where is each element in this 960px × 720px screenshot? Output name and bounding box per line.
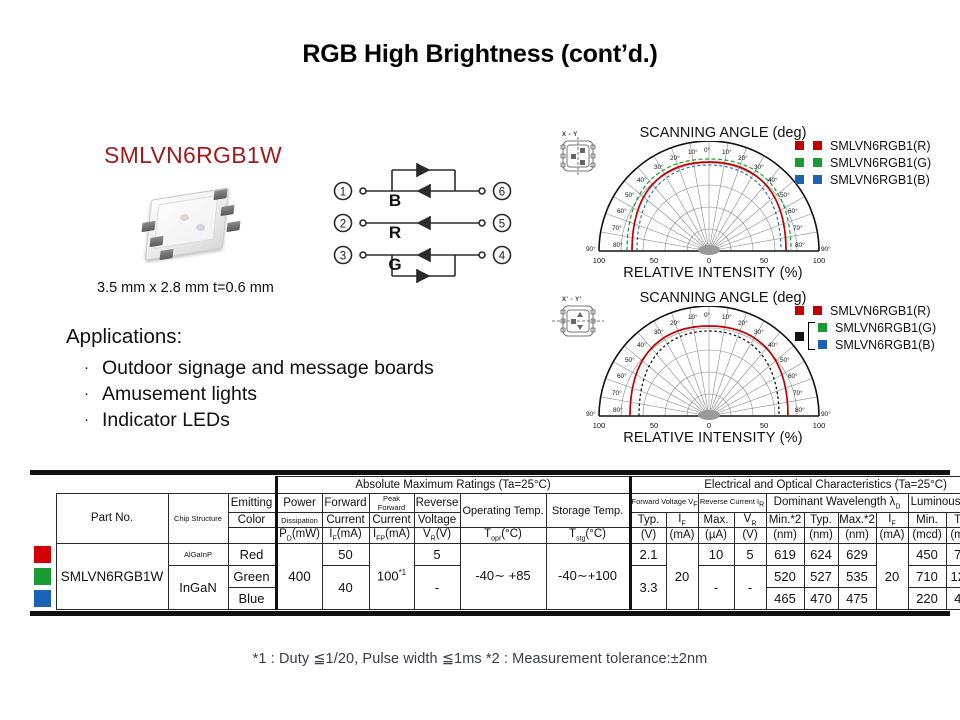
- unit-topr: Topr(°C): [460, 528, 546, 543]
- color-swatch-blue-cell: [30, 587, 56, 609]
- header-reverse-current: Reverse Current IR: [698, 494, 766, 513]
- axis-icon-label: X - Y: [562, 132, 578, 138]
- unit-if: IF(mA): [322, 528, 369, 543]
- table-top-rule: [30, 470, 950, 475]
- unit-ma-wl: (mA): [876, 528, 908, 543]
- led-die-1: [180, 214, 189, 221]
- svg-text:80°: 80°: [613, 241, 623, 249]
- cell-vf-if: 20: [666, 543, 698, 609]
- table-group-header-row: Absolute Maximum Ratings (Ta=25°C) Elect…: [30, 477, 960, 494]
- cell-ir-max-red: 10: [698, 543, 734, 565]
- cell-forward-current-red: 50: [322, 543, 369, 565]
- unit-pd: PD(mW): [276, 528, 322, 543]
- svg-text:70°: 70°: [612, 224, 622, 232]
- cell-wl-min-red: 619: [766, 543, 804, 565]
- schematic-pin-5: 5: [499, 219, 505, 231]
- legend-label-green: SMLVN6RGB1(G): [835, 321, 936, 335]
- cell-vf-gb: 3.3: [630, 565, 666, 609]
- unit-nm-max: (nm): [838, 528, 876, 543]
- radial-tick: 50: [650, 421, 658, 430]
- header-voltage: Voltage: [414, 513, 460, 528]
- svg-text:30°: 30°: [754, 328, 764, 336]
- schematic-pin-4: 4: [499, 251, 506, 263]
- part-number-heading: SMLVN6RGB1W: [104, 142, 282, 169]
- application-item-2: Indicator LEDs: [102, 409, 230, 431]
- header-chip-structure: Chip Structure: [168, 494, 228, 544]
- color-swatch-red: [34, 546, 51, 563]
- unit-mcd-typ: (mcd): [946, 528, 960, 543]
- led-pad-3: [227, 221, 241, 232]
- cell-ir-vr-red: 5: [734, 543, 766, 565]
- unit-nm-typ: (nm): [804, 528, 838, 543]
- svg-text:40°: 40°: [637, 341, 647, 349]
- svg-text:90°: 90°: [586, 245, 596, 253]
- legend-swatch-blue: [795, 175, 804, 184]
- legend-swatch-green-2: [813, 158, 822, 167]
- schematic-label-b: B: [389, 191, 401, 210]
- color-swatch-red-cell: [30, 543, 56, 565]
- schematic-label-g: G: [388, 255, 401, 274]
- radial-tick: 0: [707, 256, 711, 265]
- svg-text:50°: 50°: [780, 191, 790, 199]
- cell-wl-typ-blue: 470: [804, 587, 838, 609]
- cell-peak-forward-current: 100*1: [369, 543, 414, 609]
- svg-text:30°: 30°: [754, 163, 764, 171]
- header-dissipation: Dissipation: [276, 513, 322, 528]
- header-vf-if: IF: [666, 513, 698, 528]
- svg-text:60°: 60°: [617, 372, 627, 380]
- legend-label-red: SMLVN6RGB1(R): [830, 304, 930, 318]
- unit-v2: (V): [734, 528, 766, 543]
- svg-text:20°: 20°: [670, 319, 680, 327]
- header-current-peak: Current: [369, 513, 414, 528]
- applications-list: ·Outdoor signage and message boards ·Amu…: [84, 355, 434, 433]
- group-header-electrical: Electrical and Optical Characteristics (…: [630, 477, 960, 494]
- cell-chip-gb: InGaN: [168, 565, 228, 609]
- schematic-pin-2: 2: [340, 219, 346, 231]
- header-ir-vr: VR: [734, 513, 766, 528]
- application-item-0: Outdoor signage and message boards: [102, 357, 434, 379]
- legend-label-blue: SMLVN6RGB1(B): [830, 173, 930, 187]
- svg-text:60°: 60°: [788, 207, 798, 215]
- cell-wl-typ-red: 624: [804, 543, 838, 565]
- cell-storage-temp: -40∼+100: [546, 543, 630, 609]
- polar-chart-xy: SCANNING ANGLE (deg) X - Y: [540, 125, 960, 285]
- svg-text:60°: 60°: [617, 207, 627, 215]
- legend-swatch-black: [795, 332, 804, 341]
- cell-wl-max-red: 629: [838, 543, 876, 565]
- cell-color-red: Red: [228, 543, 276, 565]
- header-power: Power: [276, 494, 322, 513]
- led-pad-6: [160, 249, 174, 260]
- cell-iv-typ-green: 1200: [946, 565, 960, 587]
- led-die-2: [196, 224, 205, 231]
- cell-operating-temp: -40∼ +85: [460, 543, 546, 609]
- cell-power-dissipation: 400: [276, 543, 322, 609]
- chart-legend-xy: SMLVN6RGB1(R) SMLVN6RGB1(G) SMLVN6RGB1(B…: [795, 137, 931, 188]
- unit-vr: VR(V): [414, 528, 460, 543]
- polar-chart-sublabel: RELATIVE INTENSITY (%): [588, 430, 838, 446]
- legend-label-red: SMLVN6RGB1(R): [830, 139, 930, 153]
- header-luminous-intensity: Luminous Intensity IV: [908, 494, 960, 513]
- cell-wl-max-green: 535: [838, 565, 876, 587]
- svg-text:10°: 10°: [722, 313, 732, 321]
- header-wl-min: Min.*2: [766, 513, 804, 528]
- led-pad-2: [221, 205, 235, 216]
- cell-wl-min-blue: 465: [766, 587, 804, 609]
- polar-chart-xyprime: SCANNING ANGLE (deg) X' - Y': [540, 290, 960, 450]
- color-swatch-green: [34, 568, 51, 585]
- header-wl-typ: Typ.: [804, 513, 838, 528]
- schematic-pin-1: 1: [340, 187, 346, 199]
- radial-tick: 0: [707, 421, 711, 430]
- cell-wl-max-blue: 475: [838, 587, 876, 609]
- svg-text:40°: 40°: [637, 176, 647, 184]
- svg-text:80°: 80°: [795, 406, 805, 414]
- svg-text:70°: 70°: [793, 224, 803, 232]
- cell-ir-max-gb: -: [698, 565, 734, 609]
- legend-item: SMLVN6RGB1(R): [795, 137, 931, 154]
- header-part-no: Part No.: [56, 494, 168, 544]
- svg-text:50°: 50°: [625, 191, 635, 199]
- specification-table: Absolute Maximum Ratings (Ta=25°C) Elect…: [30, 470, 950, 616]
- legend-item: SMLVN6RGB1(G): [795, 154, 931, 171]
- unit-tstg: Tstg(°C): [546, 528, 630, 543]
- radial-tick: 100: [813, 421, 826, 430]
- svg-text:0°: 0°: [704, 146, 711, 154]
- legend-item: SMLVN6RGB1(B): [795, 171, 931, 188]
- svg-text:0°: 0°: [704, 311, 711, 319]
- svg-text:10°: 10°: [722, 148, 732, 156]
- header-peak-forward: Peak Forward: [369, 494, 414, 513]
- polar-chart-sublabel: RELATIVE INTENSITY (%): [588, 265, 838, 281]
- header-emitting: Emitting: [228, 494, 276, 513]
- bullet-icon: ·: [84, 381, 102, 407]
- legend-item: SMLVN6RGB1(G): [818, 319, 936, 336]
- svg-text:20°: 20°: [738, 154, 748, 162]
- svg-text:30°: 30°: [654, 328, 664, 336]
- header-wl-max: Max.*2: [838, 513, 876, 528]
- cell-color-green: Green: [228, 565, 276, 587]
- header-iv-min: Min.: [908, 513, 946, 528]
- color-swatch-green-cell: [30, 565, 56, 587]
- schematic-pin-6: 6: [499, 187, 505, 199]
- slide-root: RGB High Brightness (cont’d.) SMLVN6RGB1…: [0, 0, 960, 720]
- unit-ifp: IFP(mA): [369, 528, 414, 543]
- unit-v: (V): [630, 528, 666, 543]
- circuit-schematic: 1 2 3 6 5 4 B R G: [330, 160, 515, 285]
- unit-ua: (µA): [698, 528, 734, 543]
- list-item: ·Outdoor signage and message boards: [84, 355, 434, 381]
- header-iv-typ: Typ.: [946, 513, 960, 528]
- cell-vf-red: 2.1: [630, 543, 666, 565]
- unit-nm-min: (nm): [766, 528, 804, 543]
- header-reverse: Reverse: [414, 494, 460, 513]
- svg-text:10°: 10°: [688, 313, 698, 321]
- svg-text:40°: 40°: [768, 176, 778, 184]
- svg-text:30°: 30°: [654, 163, 664, 171]
- cell-wl-min-green: 520: [766, 565, 804, 587]
- radial-tick: 100: [593, 256, 606, 265]
- cell-wl-typ-green: 527: [804, 565, 838, 587]
- cell-iv-typ-blue: 400: [946, 587, 960, 609]
- cell-iv-min-green: 710: [908, 565, 946, 587]
- legend-swatch-red: [795, 141, 804, 150]
- cell-iv-min-red: 450: [908, 543, 946, 565]
- svg-text:90°: 90°: [586, 410, 596, 418]
- header-current-forward: Current: [322, 513, 369, 528]
- cell-wl-if: 20: [876, 543, 908, 609]
- svg-text:50°: 50°: [625, 356, 635, 364]
- legend-swatch-green: [818, 323, 827, 332]
- svg-text:10°: 10°: [688, 148, 698, 156]
- package-dimensions: 3.5 mm x 2.8 mm t=0.6 mm: [97, 280, 274, 296]
- svg-text:40°: 40°: [768, 341, 778, 349]
- legend-item: SMLVN6RGB1(B): [818, 336, 936, 353]
- cell-reverse-voltage-red: 5: [414, 543, 460, 565]
- header-forward: Forward: [322, 494, 369, 513]
- cell-iv-typ-red: 700: [946, 543, 960, 565]
- svg-text:80°: 80°: [795, 241, 805, 249]
- legend-bracket: [808, 322, 815, 350]
- unit-ma-vf: (mA): [666, 528, 698, 543]
- table-row: SMLVN6RGB1W AlGaInP Red 400 50 100*1 5 -…: [30, 543, 960, 565]
- cell-chip-red: AlGaInP: [168, 543, 228, 565]
- table-subheader-row-1: Part No. Chip Structure Emitting Power F…: [30, 494, 960, 513]
- page-title: RGB High Brightness (cont’d.): [0, 40, 960, 69]
- cell-iv-min-blue: 220: [908, 587, 946, 609]
- group-header-absolute-max: Absolute Maximum Ratings (Ta=25°C): [276, 477, 630, 494]
- legend-swatch-blue-2: [813, 175, 822, 184]
- table-footnote: *1 : Duty ≦1/20, Pulse width ≦1ms *2 : M…: [0, 651, 960, 667]
- legend-swatch-red-2: [813, 306, 822, 315]
- svg-text:80°: 80°: [613, 406, 623, 414]
- application-item-1: Amusement lights: [102, 383, 257, 405]
- applications-heading: Applications:: [66, 325, 182, 349]
- schematic-label-r: R: [389, 223, 401, 242]
- header-vf-typ: Typ.: [630, 513, 666, 528]
- header-color: Color: [228, 513, 276, 528]
- svg-text:60°: 60°: [788, 372, 798, 380]
- svg-text:20°: 20°: [738, 319, 748, 327]
- legend-item: SMLVN6RGB1(R): [795, 302, 936, 319]
- svg-text:50°: 50°: [780, 356, 790, 364]
- header-storage-temp: Storage Temp.: [546, 494, 630, 528]
- svg-text:90°: 90°: [821, 245, 831, 253]
- color-swatch-blue: [34, 590, 51, 607]
- radial-tick: 50: [760, 421, 768, 430]
- bullet-icon: ·: [84, 407, 102, 433]
- radial-tick: 50: [760, 256, 768, 265]
- legend-label-blue: SMLVN6RGB1(B): [835, 338, 935, 352]
- cell-color-blue: Blue: [228, 587, 276, 609]
- cell-forward-current-gb: 40: [322, 565, 369, 609]
- axis-icon-label: X' - Y': [562, 297, 582, 303]
- svg-text:70°: 70°: [793, 389, 803, 397]
- list-item: ·Amusement lights: [84, 381, 434, 407]
- cell-part-no: SMLVN6RGB1W: [56, 543, 168, 609]
- legend-swatch-red: [795, 306, 804, 315]
- header-ir-max: Max.: [698, 513, 734, 528]
- radial-tick: 50: [650, 256, 658, 265]
- legend-label-green: SMLVN6RGB1(G): [830, 156, 931, 170]
- radial-tick: 100: [593, 421, 606, 430]
- header-wl-if: IF: [876, 513, 908, 528]
- svg-text:90°: 90°: [821, 410, 831, 418]
- cell-ir-vr-gb: -: [734, 565, 766, 609]
- svg-text:20°: 20°: [670, 154, 680, 162]
- svg-text:70°: 70°: [612, 389, 622, 397]
- table-bottom-rule: [30, 611, 950, 616]
- list-item: ·Indicator LEDs: [84, 407, 434, 433]
- header-forward-voltage: Forward Voltage VF: [630, 494, 698, 513]
- cell-reverse-voltage-gb: -: [414, 565, 460, 609]
- schematic-pin-3: 3: [340, 251, 346, 263]
- unit-mcd-min: (mcd): [908, 528, 946, 543]
- bullet-icon: ·: [84, 355, 102, 381]
- header-dominant-wavelength: Dominant Wavelength λD: [766, 494, 908, 513]
- chart-legend-xyprime: SMLVN6RGB1(R) SMLVN6RGB1(G) SMLVN6RGB1(B…: [795, 302, 936, 353]
- led-package-photo: [128, 184, 244, 268]
- legend-swatch-blue: [818, 340, 827, 349]
- header-operating-temp: Operating Temp.: [460, 494, 546, 528]
- radial-tick: 100: [813, 256, 826, 265]
- legend-swatch-green: [795, 158, 804, 167]
- swatch-col-header: [30, 477, 56, 544]
- legend-swatch-red-2: [813, 141, 822, 150]
